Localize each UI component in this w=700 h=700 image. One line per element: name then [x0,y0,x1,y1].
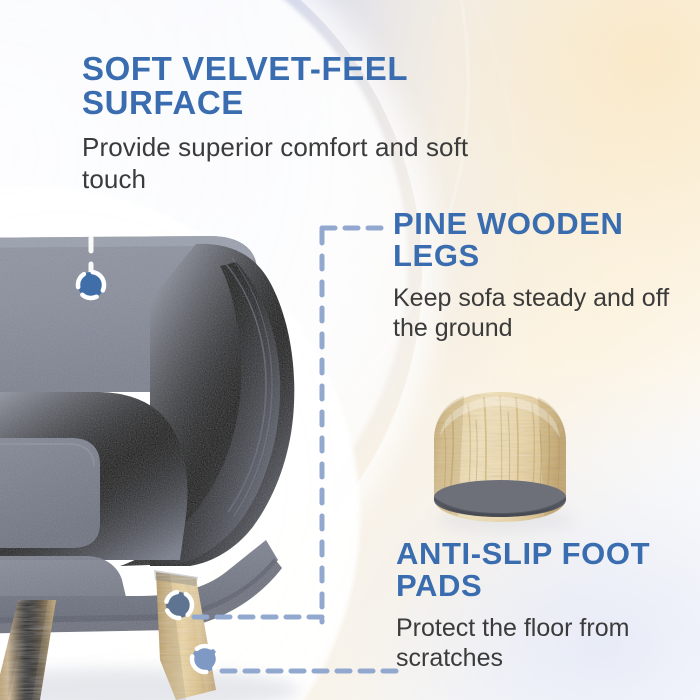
callout-pads: ANTI-SLIP FOOT PADS Protect the floor fr… [396,538,696,674]
callout-velvet: SOFT VELVET-FEEL SURFACE Provide superio… [82,52,502,195]
leader-line-pads [218,661,408,681]
leader-line-legs [312,218,402,628]
callout-pads-headline: ANTI-SLIP FOOT PADS [396,538,696,602]
callout-velvet-headline: SOFT VELVET-FEEL SURFACE [82,52,502,120]
product-feature-infographic: SOFT VELVET-FEEL SURFACE Provide superio… [0,0,700,700]
velvet-marker-dot-icon[interactable] [70,264,112,311]
callout-pads-subtitle: Protect the floor from scratches [396,613,696,674]
leg-marker-dot-icon[interactable] [158,584,200,631]
callout-velvet-subtitle: Provide superior comfort and soft touch [82,132,502,195]
callout-legs-headline: PINE WOODEN LEGS [393,208,693,272]
leader-line-leg-horizontal [190,607,335,627]
callout-legs-subtitle: Keep sofa steady and off the ground [393,283,693,344]
pad-marker-dot-icon[interactable] [184,638,226,685]
callout-legs: PINE WOODEN LEGS Keep sofa steady and of… [393,208,693,344]
